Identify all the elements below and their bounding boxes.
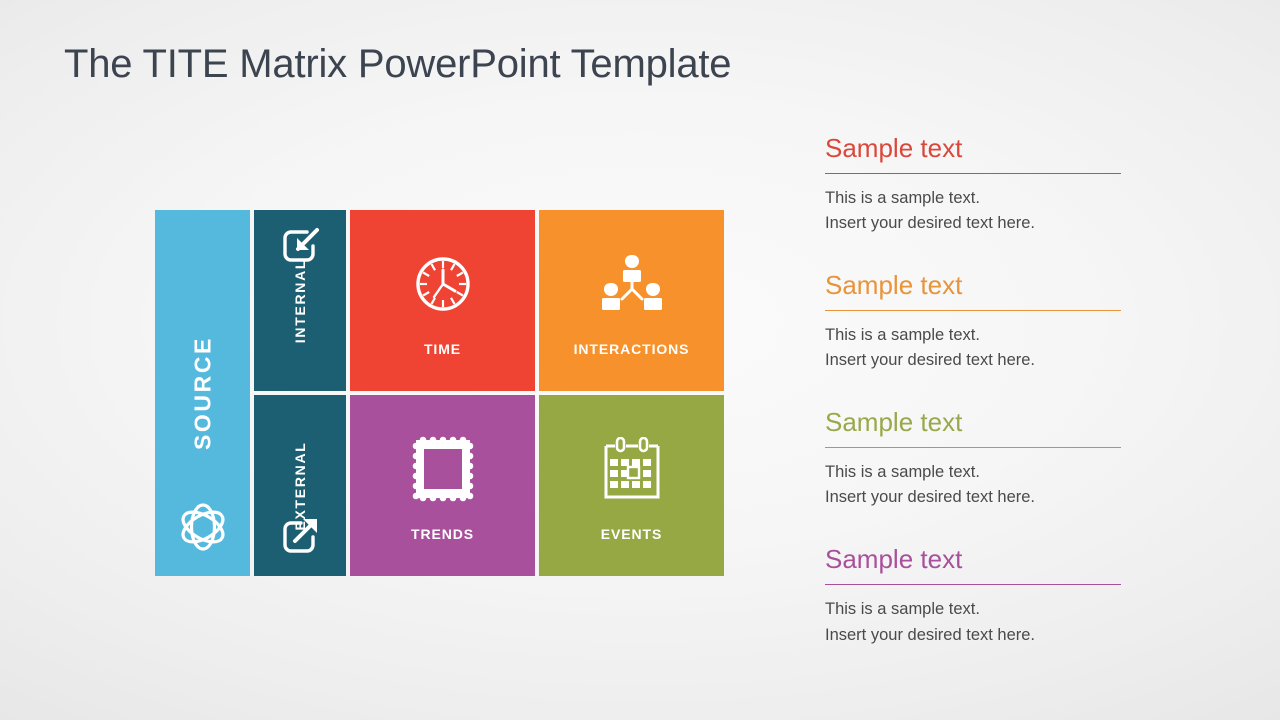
text-block-line1: This is a sample text. <box>825 186 1125 212</box>
text-block: Sample text This is a sample text. Inser… <box>825 271 1125 374</box>
matrix-quadrant-trends[interactable]: TRENDS <box>350 395 535 576</box>
source-column-label: SOURCE <box>189 336 216 450</box>
text-block-body: This is a sample text. Insert your desir… <box>825 460 1125 511</box>
text-block-heading: Sample text <box>825 545 1125 584</box>
text-block-body: This is a sample text. Insert your desir… <box>825 186 1125 237</box>
text-block: Sample text This is a sample text. Inser… <box>825 134 1125 237</box>
text-block-heading: Sample text <box>825 134 1125 173</box>
clock-icon <box>410 245 476 323</box>
matrix-quadrant-events[interactable]: EVENTS <box>539 395 724 576</box>
matrix-quadrant-interactions[interactable]: INTERACTIONS <box>539 210 724 391</box>
text-block-body: This is a sample text. Insert your desir… <box>825 597 1125 648</box>
atom-icon <box>177 501 229 558</box>
text-block-heading: Sample text <box>825 408 1125 447</box>
tite-matrix-diagram: SOURCE INTERNAL EXTER <box>155 210 720 576</box>
text-block: Sample text This is a sample text. Inser… <box>825 545 1125 648</box>
text-block-body: This is a sample text. Insert your desir… <box>825 323 1125 374</box>
text-block-line1: This is a sample text. <box>825 460 1125 486</box>
quadrant-label-interactions: INTERACTIONS <box>574 341 690 357</box>
matrix-quadrant-time[interactable]: TIME <box>350 210 535 391</box>
matrix-cell-external[interactable]: EXTERNAL <box>254 395 346 576</box>
text-block-divider <box>825 310 1121 311</box>
arrow-outward-icon <box>277 513 323 564</box>
quadrant-label-trends: TRENDS <box>411 526 474 542</box>
postage-stamp-icon <box>412 430 474 508</box>
people-network-icon <box>598 245 666 323</box>
text-block-line2: Insert your desired text here. <box>825 485 1125 511</box>
text-block: Sample text This is a sample text. Inser… <box>825 408 1125 511</box>
text-block-line2: Insert your desired text here. <box>825 348 1125 374</box>
calendar-icon <box>599 430 665 508</box>
text-block-divider <box>825 447 1121 448</box>
text-block-line2: Insert your desired text here. <box>825 211 1125 237</box>
text-block-line1: This is a sample text. <box>825 323 1125 349</box>
internal-label: INTERNAL <box>292 258 308 342</box>
matrix-cell-internal[interactable]: INTERNAL <box>254 210 346 391</box>
quadrant-label-time: TIME <box>424 341 461 357</box>
text-block-divider <box>825 173 1121 174</box>
text-block-line2: Insert your desired text here. <box>825 623 1125 649</box>
matrix-axis-column: INTERNAL EXTERNAL <box>254 210 346 576</box>
page-title: The TITE Matrix PowerPoint Template <box>64 42 731 87</box>
sample-text-panel: Sample text This is a sample text. Inser… <box>825 134 1125 648</box>
matrix-source-column[interactable]: SOURCE <box>155 210 250 576</box>
text-block-line1: This is a sample text. <box>825 597 1125 623</box>
text-block-heading: Sample text <box>825 271 1125 310</box>
text-block-divider <box>825 584 1121 585</box>
quadrant-label-events: EVENTS <box>601 526 662 542</box>
